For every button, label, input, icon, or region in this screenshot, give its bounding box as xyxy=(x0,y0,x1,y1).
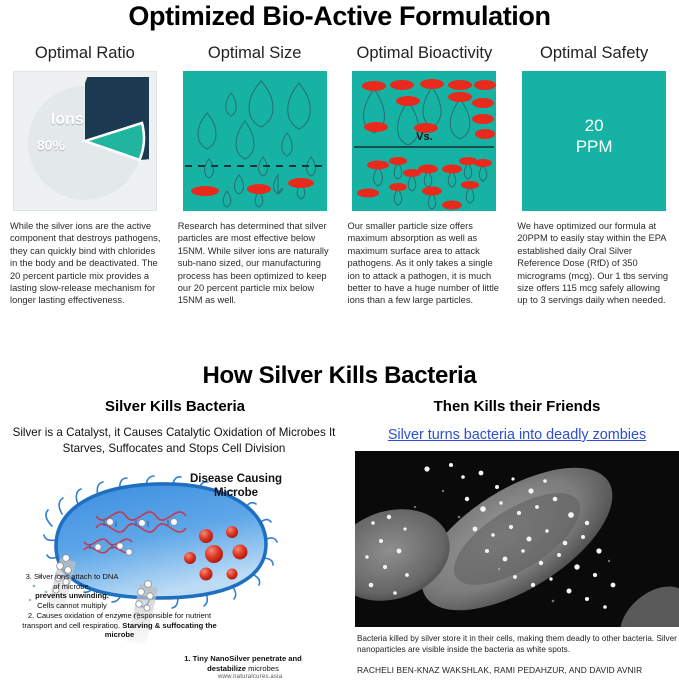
section-title-how-silver-kills: How Silver Kills Bacteria xyxy=(0,362,679,390)
annotation-3-line2: of microbe. xyxy=(53,582,91,591)
pie-label-percent: 80% xyxy=(37,137,65,153)
annotation-3-bold: prevents unwinding. xyxy=(35,591,109,600)
annotation-3-line1: 3. Silver ions attach to DNA xyxy=(26,572,119,581)
droplets-background xyxy=(183,71,327,211)
microbe-diagram: Disease Causing Microbe 3. Silver ions a… xyxy=(0,466,348,682)
left-caption-text: Silver is a Catalyst, it Causes Catalyti… xyxy=(0,425,348,457)
page-title: Optimized Bio-Active Formulation xyxy=(0,0,679,32)
ppm-figure: 20 PPM xyxy=(522,71,666,211)
panel-body-ratio: While the silver ions are the active com… xyxy=(6,220,164,307)
microbe-label: Disease Causing Microbe xyxy=(176,472,296,500)
panel-title-safety: Optimal Safety xyxy=(515,44,673,63)
annotation-2: 2. Causes oxidation of enzyme responsibl… xyxy=(12,611,227,640)
pie-chart-figure: Ions 80% xyxy=(13,71,157,211)
ppm-value: 20 xyxy=(522,115,666,136)
vs-background: Vs. xyxy=(352,71,496,211)
droplets-svg xyxy=(183,71,327,211)
feature-panels: Optimal Ratio Ions 80% While the silver … xyxy=(0,44,679,307)
annotation-3-line3: Cells cannot multiply xyxy=(37,601,107,610)
pie-chart-background xyxy=(13,71,157,211)
ppm-background: 20 PPM xyxy=(522,71,666,211)
panel-optimal-size: Optimal Size xyxy=(170,44,340,307)
vs-comparison-figure: Vs. xyxy=(352,71,496,211)
ppm-unit: PPM xyxy=(522,136,666,157)
vs-label: Vs. xyxy=(352,131,496,143)
droplets-figure xyxy=(183,71,327,211)
annotation-3: 3. Silver ions attach to DNA of microbe.… xyxy=(2,572,142,610)
panel-optimal-safety: Optimal Safety 20 PPM We have optimized … xyxy=(509,44,679,307)
zombie-article-link[interactable]: Silver turns bacteria into deadly zombie… xyxy=(355,427,679,443)
panel-title-bioactivity: Optimal Bioactivity xyxy=(346,44,504,63)
ppm-readout: 20 PPM xyxy=(522,115,666,157)
panel-optimal-ratio: Optimal Ratio Ions 80% While the silver … xyxy=(0,44,170,307)
panel-title-size: Optimal Size xyxy=(176,44,334,63)
bacteria-micrograph xyxy=(355,451,679,627)
annotation-1: 1. Tiny NanoSilver penetrate and destabi… xyxy=(168,654,318,673)
pie-label-ions: Ions xyxy=(51,111,84,129)
micrograph-caption: Bacteria killed by silver store it in th… xyxy=(357,633,677,655)
annotation-2-bold: Starving & suffocating the microbe xyxy=(105,621,217,640)
subtitle-then-kills-friends: Then Kills their Friends xyxy=(355,398,679,415)
infographic-root: Optimized Bio-Active Formulation Optimal… xyxy=(0,0,679,682)
panel-title-ratio: Optimal Ratio xyxy=(6,44,164,63)
panel-optimal-bioactivity: Optimal Bioactivity xyxy=(340,44,510,307)
panel-body-size: Research has determined that silver part… xyxy=(176,220,334,307)
panel-body-safety: We have optimized our formula at 20PPM t… xyxy=(515,220,673,307)
panel-body-bioactivity: Our smaller particle size offers maximum… xyxy=(346,220,504,307)
watermark-url: www.naturalcures.asia xyxy=(218,674,282,680)
micrograph-svg xyxy=(355,451,679,627)
subtitle-silver-kills-bacteria: Silver Kills Bacteria xyxy=(10,398,340,415)
micrograph-credit: RACHELI BEN-KNAZ WAKSHLAK, RAMI PEDAHZUR… xyxy=(357,665,679,675)
annotation-1-text: microbes xyxy=(246,664,279,673)
annotation-1-bold: 1. Tiny NanoSilver penetrate and destabi… xyxy=(184,654,302,673)
